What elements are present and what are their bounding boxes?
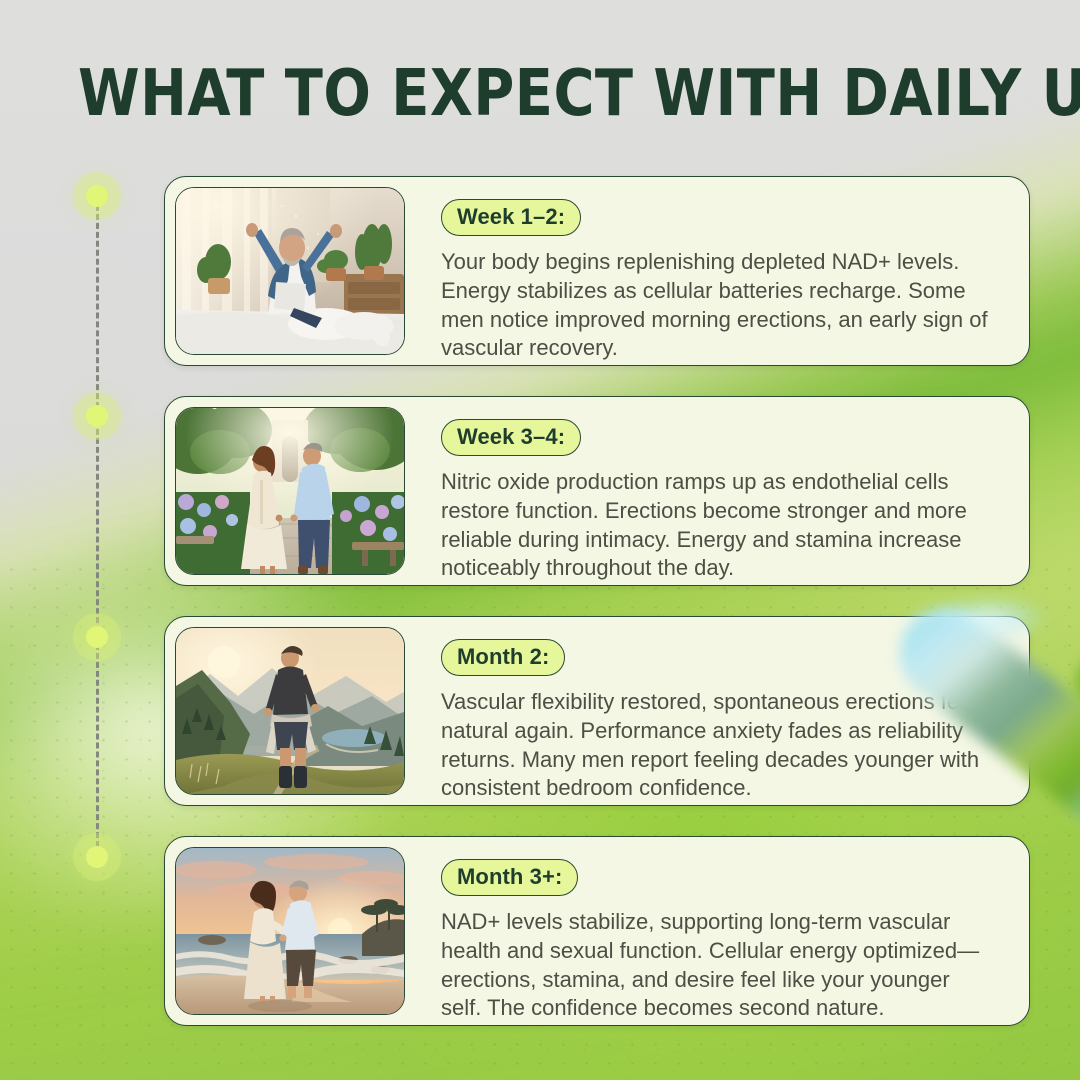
timeline-connector-line — [96, 196, 109, 856]
card-image-week-3-4 — [175, 407, 405, 575]
timeline-dot-1 — [86, 185, 108, 207]
timeline-card[interactable]: Week 1–2: Your body begins replenishing … — [164, 176, 1030, 366]
card-image-month-3-plus — [175, 847, 405, 1015]
card-description: Vascular flexibility restored, spontaneo… — [441, 688, 995, 803]
page-title: WHAT TO EXPECT WITH DAILY USE — [78, 62, 1080, 126]
card-body: Week 1–2: Your body begins replenishing … — [405, 177, 1029, 365]
card-body: Month 3+: NAD+ levels stabilize, support… — [405, 837, 1029, 1025]
card-badge: Month 2: — [441, 639, 565, 676]
card-description: Nitric oxide production ramps up as endo… — [441, 468, 995, 583]
timeline-card[interactable]: Week 3–4: Nitric oxide production ramps … — [164, 396, 1030, 586]
timeline-card[interactable]: Month 2: Vascular flexibility restored, … — [164, 616, 1030, 806]
card-image-week-1-2 — [175, 187, 405, 355]
card-body: Month 2: Vascular flexibility restored, … — [405, 617, 1029, 805]
card-description: NAD+ levels stabilize, supporting long-t… — [441, 908, 995, 1023]
card-badge: Month 3+: — [441, 859, 578, 896]
card-body: Week 3–4: Nitric oxide production ramps … — [405, 397, 1029, 585]
card-image-month-2 — [175, 627, 405, 795]
card-badge: Week 1–2: — [441, 199, 581, 236]
timeline-dot-4 — [86, 846, 108, 868]
card-badge: Week 3–4: — [441, 419, 581, 456]
card-description: Your body begins replenishing depleted N… — [441, 248, 995, 363]
timeline-dot-3 — [86, 626, 108, 648]
timeline-dot-2 — [86, 405, 108, 427]
timeline-card[interactable]: Month 3+: NAD+ levels stabilize, support… — [164, 836, 1030, 1026]
infographic-canvas: WHAT TO EXPECT WITH DAILY USE — [0, 0, 1080, 1080]
